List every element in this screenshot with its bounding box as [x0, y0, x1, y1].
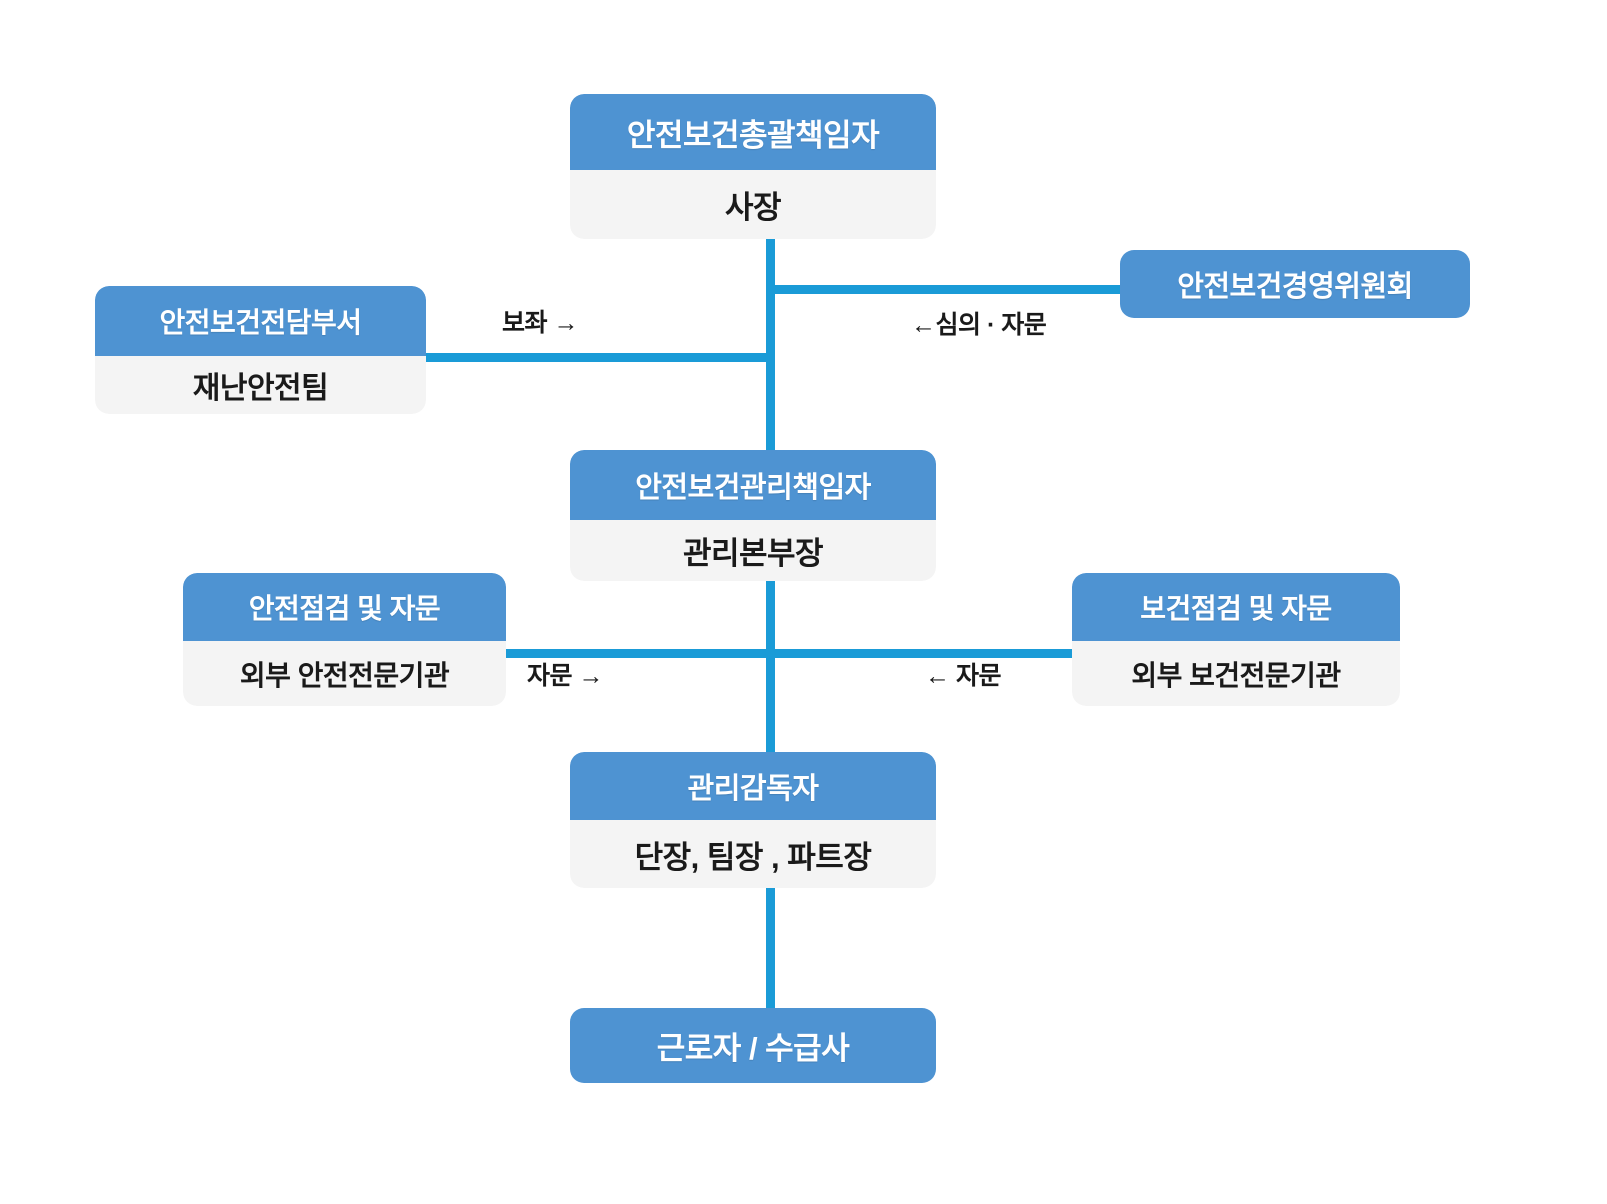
node-role-label: 안전보건관리책임자: [570, 450, 936, 520]
org-chart-canvas: 안전보건총괄책임자 사장 안전보건전담부서 재난안전팀 안전보건경영위원회 안전…: [0, 0, 1607, 1204]
edge-label-safety-to-manager: 자문 →: [527, 656, 603, 692]
node-external-safety-agency[interactable]: 안전점검 및 자문 외부 안전전문기관: [183, 573, 506, 706]
node-external-health-agency[interactable]: 보건점검 및 자문 외부 보건전문기관: [1072, 573, 1400, 706]
edge-label-health-to-manager: ← 자문: [925, 656, 1001, 692]
node-safety-health-chief-officer[interactable]: 안전보건총괄책임자 사장: [570, 94, 936, 239]
connector-manager-to-supervisor: [766, 581, 775, 753]
node-holder-label: 외부 보건전문기관: [1072, 641, 1400, 706]
node-holder-label: 사장: [570, 170, 936, 239]
node-holder-label: 단장, 팀장 , 파트장: [570, 820, 936, 888]
connector-dept-to-ceo: [424, 353, 771, 362]
node-holder-label: 관리본부장: [570, 520, 936, 581]
node-workers-and-contractors[interactable]: 근로자 / 수급사: [570, 1008, 936, 1083]
node-managing-supervisor[interactable]: 관리감독자 단장, 팀장 , 파트장: [570, 752, 936, 888]
node-holder-label: 재난안전팀: [95, 356, 426, 414]
node-role-label: 관리감독자: [570, 752, 936, 820]
node-safety-health-dedicated-department[interactable]: 안전보건전담부서 재난안전팀: [95, 286, 426, 414]
node-role-label: 안전점검 및 자문: [183, 573, 506, 641]
node-role-label: 보건점검 및 자문: [1072, 573, 1400, 641]
node-safety-health-manager[interactable]: 안전보건관리책임자 관리본부장: [570, 450, 936, 581]
node-holder-label: 외부 안전전문기관: [183, 641, 506, 706]
node-role-label: 안전보건경영위원회: [1120, 250, 1470, 318]
connector-ceo-to-manager: [766, 239, 775, 451]
node-role-label: 안전보건전담부서: [95, 286, 426, 356]
node-safety-health-management-committee[interactable]: 안전보건경영위원회: [1120, 250, 1470, 318]
connector-supervisor-to-worker: [766, 888, 775, 1009]
node-role-label: 안전보건총괄책임자: [570, 94, 936, 170]
edge-label-dept-to-ceo: 보좌 →: [502, 303, 578, 339]
node-role-label: 근로자 / 수급사: [570, 1008, 936, 1083]
connector-ceo-to-committee: [770, 285, 1122, 294]
edge-label-committee-to-ceo: ←심의 · 자문: [911, 305, 1046, 341]
